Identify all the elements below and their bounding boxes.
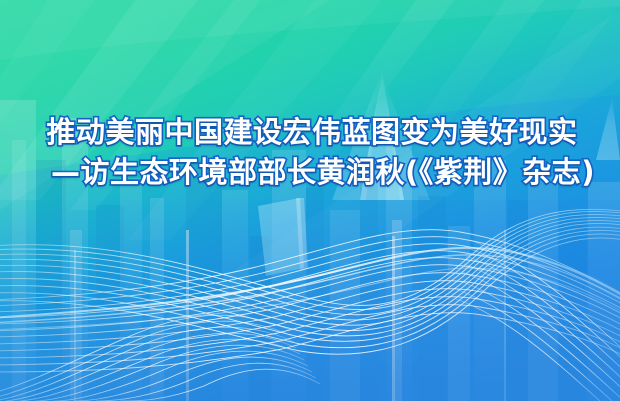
wave-lines-layer (0, 0, 620, 401)
banner-image: 推动美丽中国建设宏伟蓝图变为美好现实 —访生态环境部部长黄润秋(《紫荆》杂志) (0, 0, 620, 401)
